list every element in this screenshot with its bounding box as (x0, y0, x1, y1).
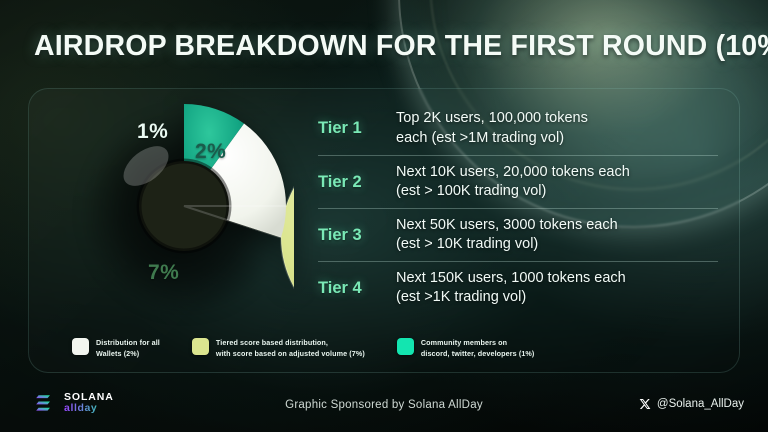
tier-row: Tier 4 Next 150K users, 1000 tokens each… (318, 261, 718, 314)
legend-item-tiered-score: Tiered score based distribution, with sc… (192, 337, 365, 359)
donut-label-7pct: 7% (148, 261, 179, 285)
footer-bar: SOLANA allday Graphic Sponsored by Solan… (0, 380, 768, 432)
tier-description-line1: Next 50K users, 3000 tokens each (396, 216, 718, 235)
tier-label: Tier 1 (318, 119, 396, 138)
tier-list: Tier 1 Top 2K users, 100,000 tokens each… (318, 102, 718, 314)
donut-chart: 1% 2% 7% (74, 96, 294, 316)
tier-description: Top 2K users, 100,000 tokens each (est >… (396, 109, 718, 148)
tier-row: Tier 1 Top 2K users, 100,000 tokens each… (318, 102, 718, 155)
tier-label: Tier 3 (318, 226, 396, 245)
social-handle-text: @Solana_AllDay (657, 398, 744, 410)
tier-description-line2: each (est >1M trading vol) (396, 129, 718, 148)
legend-swatch-white (72, 338, 89, 355)
legend-swatch-teal (397, 338, 414, 355)
legend-swatch-yellow (192, 338, 209, 355)
tier-description-line1: Next 10K users, 20,000 tokens each (396, 163, 718, 182)
legend-label: Distribution for all Wallets (2%) (96, 337, 160, 359)
donut-label-1pct: 1% (137, 120, 168, 144)
legend-item-wallets: Distribution for all Wallets (2%) (72, 337, 160, 359)
donut-label-2pct: 2% (195, 140, 226, 164)
legend-label-line2: Wallets (2%) (96, 348, 160, 359)
chart-legend: Distribution for all Wallets (2%) Tiered… (72, 337, 534, 359)
legend-label: Tiered score based distribution, with sc… (216, 337, 365, 359)
page-title: AIRDROP BREAKDOWN FOR THE FIRST ROUND (1… (34, 30, 754, 63)
tier-row: Tier 2 Next 10K users, 20,000 tokens eac… (318, 155, 718, 208)
tier-row: Tier 3 Next 50K users, 3000 tokens each … (318, 208, 718, 261)
tier-description: Next 50K users, 3000 tokens each (est > … (396, 216, 718, 255)
legend-label-line2: discord, twitter, developers (1%) (421, 348, 535, 359)
tier-description: Next 10K users, 20,000 tokens each (est … (396, 163, 718, 202)
slide-canvas: AIRDROP BREAKDOWN FOR THE FIRST ROUND (1… (0, 0, 768, 432)
tier-label: Tier 2 (318, 173, 396, 192)
legend-label: Community members on discord, twitter, d… (421, 337, 535, 359)
legend-item-community: Community members on discord, twitter, d… (397, 337, 535, 359)
social-handle[interactable]: @Solana_AllDay (639, 398, 744, 410)
x-twitter-icon (639, 398, 651, 410)
legend-label-line1: Tiered score based distribution, (216, 337, 365, 348)
donut-graphic (74, 96, 294, 316)
legend-label-line1: Distribution for all (96, 337, 160, 348)
tier-label: Tier 4 (318, 279, 396, 298)
tier-description-line2: (est > 10K trading vol) (396, 235, 718, 254)
tier-description-line1: Next 150K users, 1000 tokens each (396, 269, 718, 288)
legend-label-line2: with score based on adjusted volume (7%) (216, 348, 365, 359)
tier-description-line1: Top 2K users, 100,000 tokens (396, 109, 718, 128)
tier-description: Next 150K users, 1000 tokens each (est >… (396, 269, 718, 308)
tier-description-line2: (est >1K trading vol) (396, 288, 718, 307)
tier-description-line2: (est > 100K trading vol) (396, 182, 718, 201)
legend-label-line1: Community members on (421, 337, 535, 348)
